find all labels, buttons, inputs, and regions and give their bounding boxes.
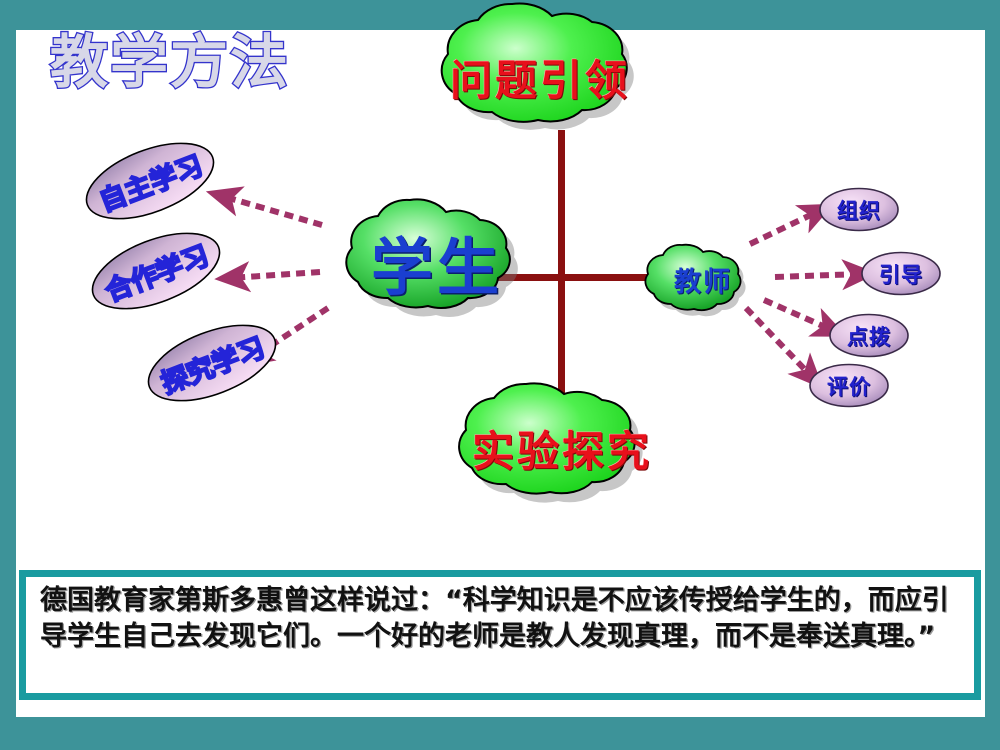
method-node-hezuo[interactable]: 合作学习 (86, 238, 226, 304)
role-node-pingjia[interactable]: 评价 (808, 363, 890, 408)
role-node-zuzhi[interactable]: 组织 (818, 187, 900, 232)
page-title: 教学方法 (46, 26, 346, 98)
role-node-yindao[interactable]: 引导 (860, 251, 942, 296)
cloud-node-shiyan[interactable]: 实验探究 (412, 378, 712, 518)
page-title-text: 教学方法 (50, 28, 290, 96)
quote-text: 德国教育家第斯多惠曾这样说过：“科学知识是不应该传授给学生的，而应引导学生自己去… (40, 583, 964, 655)
cloud-node-wenti[interactable]: 问题引领 (390, 2, 690, 152)
cloud-node-xuesheng[interactable]: 学生 (312, 192, 562, 332)
cloud-node-jiaoshi[interactable]: 教师 (628, 238, 778, 320)
quote-box: 德国教育家第斯多惠曾这样说过：“科学知识是不应该传授给学生的，而应引导学生自己去… (19, 570, 981, 700)
method-node-zizhu[interactable]: 自主学习 (80, 148, 220, 214)
slide-canvas: 教学方法 问题引领 (0, 0, 1000, 750)
method-node-tanjiu[interactable]: 探究学习 (142, 330, 282, 396)
role-node-dianbo[interactable]: 点拨 (828, 313, 910, 358)
